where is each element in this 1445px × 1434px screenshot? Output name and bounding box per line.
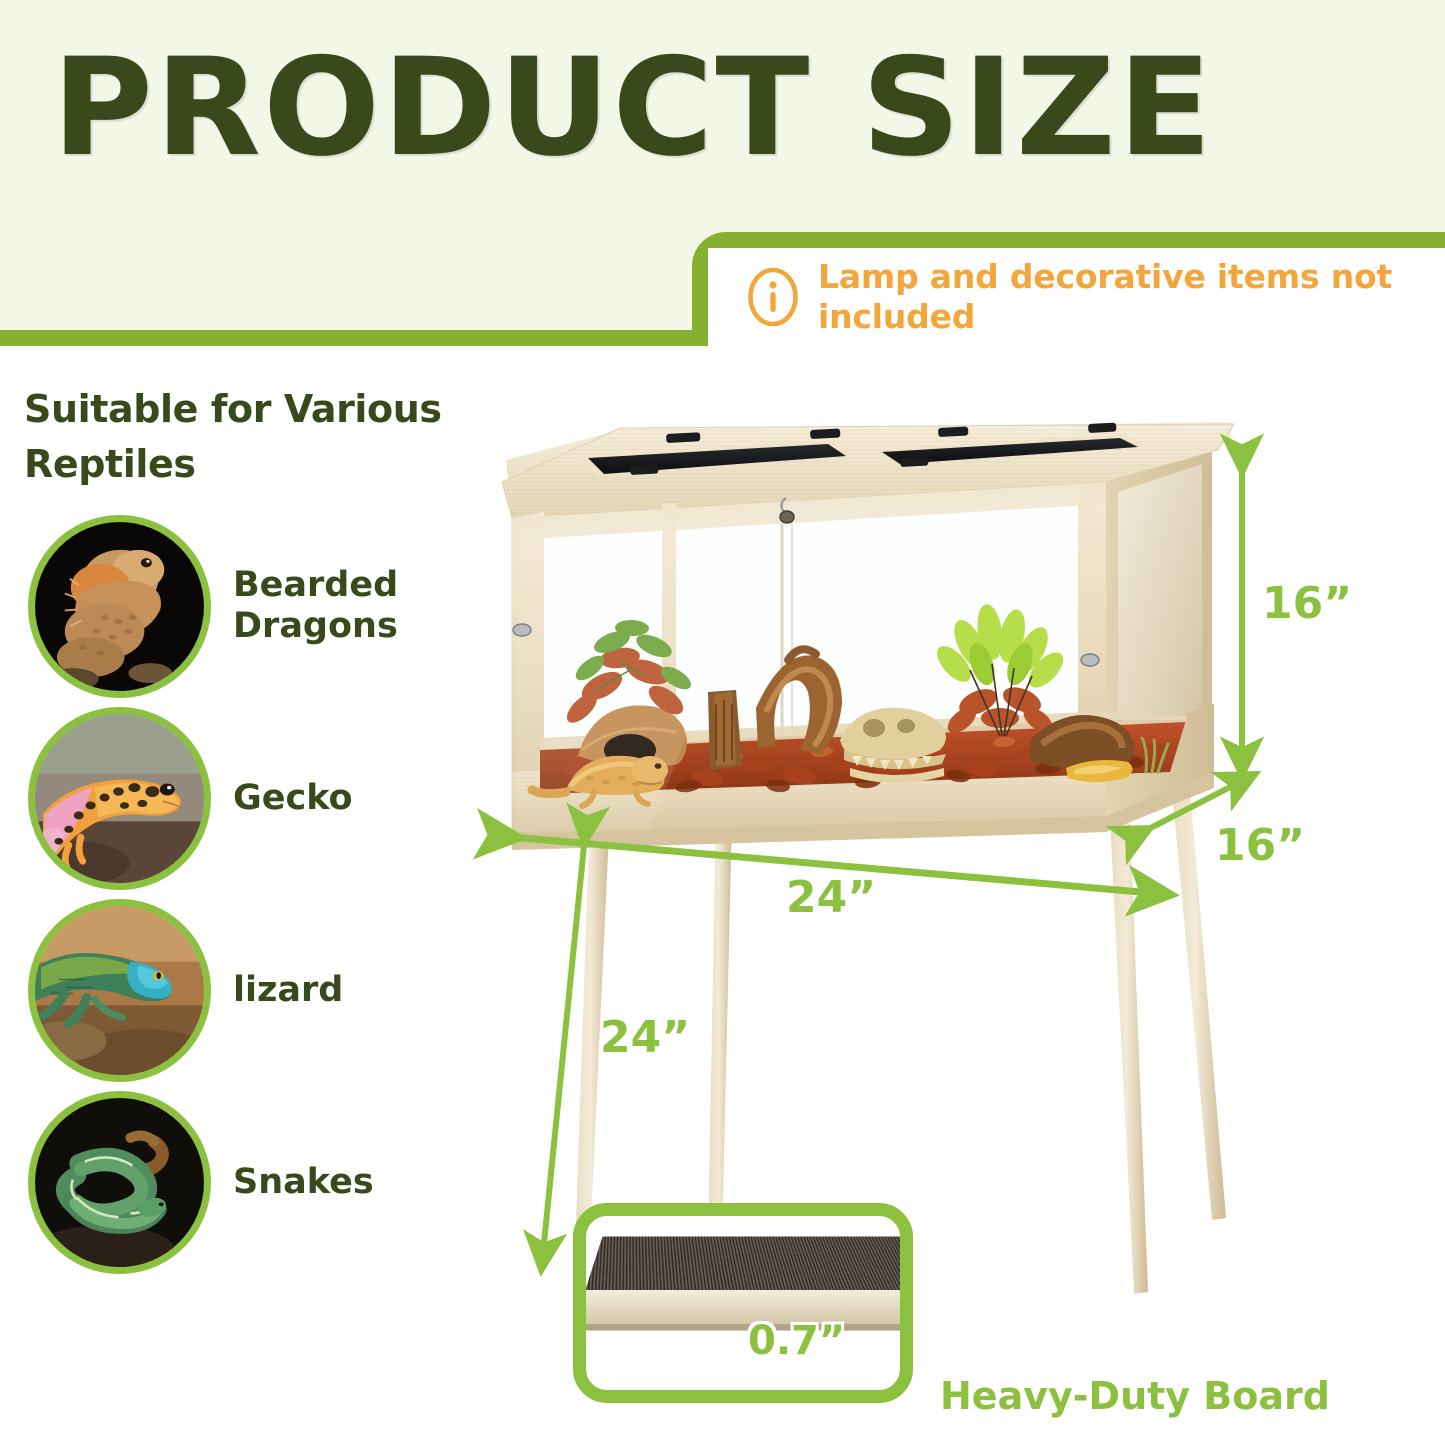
dimension-label-height: 16” <box>1262 578 1352 629</box>
board-mesh-surface <box>584 1236 913 1294</box>
infographic-page: PRODUCT SIZE Lamp and decorative items n… <box>0 0 1445 1434</box>
dimension-label-thickness: 0.7” <box>748 1318 845 1364</box>
dimension-label-legheight: 24” <box>600 1012 690 1063</box>
heavy-duty-board-label: Heavy-Duty Board <box>940 1374 1330 1418</box>
dimension-label-depth: 16” <box>1215 820 1305 871</box>
dimension-label-width: 24” <box>786 872 876 923</box>
dimension-legheight-arrow <box>543 826 586 1253</box>
heavy-duty-board-inset <box>573 1203 913 1403</box>
